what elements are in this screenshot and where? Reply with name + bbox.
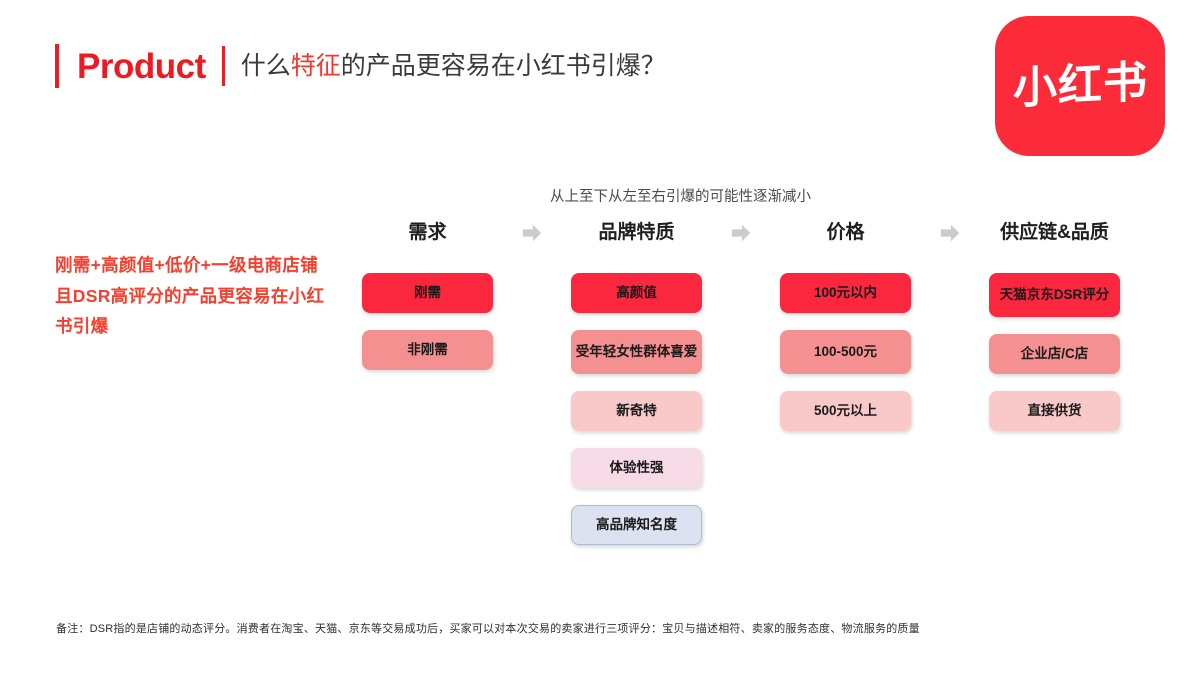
matrix-card[interactable]: 100元以内 — [780, 273, 911, 313]
matrix-caption: 从上至下从左至右引爆的可能性逐渐减小 — [550, 185, 811, 206]
right-arrow-icon — [917, 218, 983, 248]
matrix-column-2: 品牌特质高颜值受年轻女性群体喜爱新奇特体验性强高品牌知名度 — [565, 218, 708, 562]
matrix-card[interactable]: 刚需 — [362, 273, 493, 313]
right-arrow-icon — [499, 218, 565, 248]
column-card-list: 刚需非刚需 — [356, 273, 499, 387]
column-header: 需求 — [408, 218, 446, 248]
matrix-card[interactable]: 100-500元 — [780, 330, 911, 374]
matrix-column-1: 需求刚需非刚需 — [356, 218, 499, 387]
subtitle-part-before: 什么 — [241, 52, 291, 80]
matrix-card[interactable]: 高颜值 — [571, 273, 702, 313]
matrix-card[interactable]: 天猫京东DSR评分 — [989, 273, 1120, 317]
matrix-card[interactable]: 体验性强 — [571, 448, 702, 488]
footnote: 备注：DSR指的是店铺的动态评分。消费者在淘宝、天猫、京东等交易成功后，买家可以… — [56, 620, 920, 636]
header-left-rule — [55, 44, 59, 88]
matrix-card[interactable]: 直接供货 — [989, 391, 1120, 431]
page-subtitle: 什么特征的产品更容易在小红书引爆？ — [241, 54, 666, 79]
matrix-card[interactable]: 500元以上 — [780, 391, 911, 431]
matrix-column-4: 供应链&品质天猫京东DSR评分企业店/C店直接供货 — [983, 218, 1126, 448]
column-card-list: 高颜值受年轻女性群体喜爱新奇特体验性强高品牌知名度 — [565, 273, 708, 562]
column-header: 价格 — [826, 218, 864, 248]
column-header: 供应链&品质 — [1000, 218, 1109, 248]
matrix-card[interactable]: 企业店/C店 — [989, 334, 1120, 374]
matrix-card[interactable]: 非刚需 — [362, 330, 493, 370]
header-divider-rule — [222, 46, 225, 86]
subtitle-part-highlight: 特征 — [291, 52, 341, 80]
matrix-column-3: 价格100元以内100-500元500元以上 — [774, 218, 917, 448]
logo-text: 小红书 — [1013, 60, 1148, 111]
column-card-list: 天猫京东DSR评分企业店/C店直接供货 — [983, 273, 1126, 448]
page-title: Product — [77, 49, 206, 84]
matrix-card[interactable]: 高品牌知名度 — [571, 505, 702, 545]
callout-text: 刚需+高颜值+低价+一级电商店铺且DSR高评分的产品更容易在小红书引爆 — [55, 250, 335, 342]
subtitle-part-after: 的产品更容易在小红书引爆？ — [341, 52, 666, 80]
right-arrow-icon — [708, 218, 774, 248]
feature-matrix: 需求刚需非刚需品牌特质高颜值受年轻女性群体喜爱新奇特体验性强高品牌知名度价格10… — [356, 218, 1128, 562]
column-card-list: 100元以内100-500元500元以上 — [774, 273, 917, 448]
matrix-card[interactable]: 新奇特 — [571, 391, 702, 431]
slide-header: Product 什么特征的产品更容易在小红书引爆？ — [55, 40, 666, 92]
column-header: 品牌特质 — [598, 218, 674, 248]
matrix-card[interactable]: 受年轻女性群体喜爱 — [571, 330, 702, 374]
xiaohongshu-logo: 小红书 — [995, 16, 1165, 156]
